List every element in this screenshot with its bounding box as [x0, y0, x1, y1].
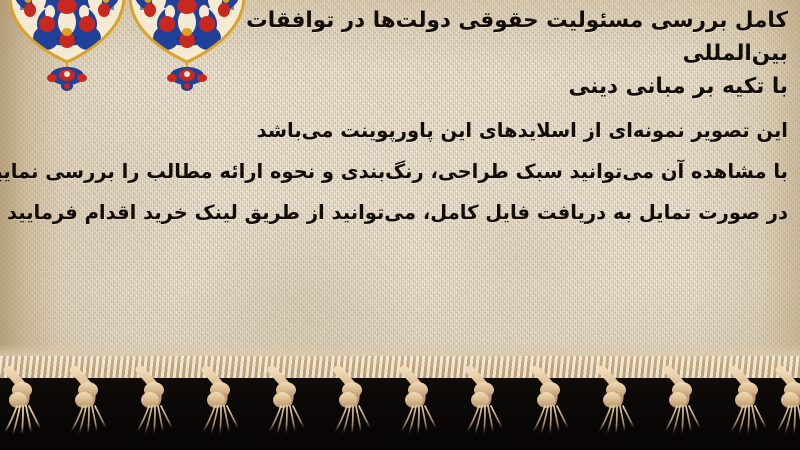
slide-title-line-1: کامل بررسی مسئولیت حقوقی دولت‌ها در تواف… [246, 8, 788, 66]
persian-medallion-left-icon [6, 0, 128, 91]
slide-body-line-2: با مشاهده آن می‌توانید سبک طراحی، رنگ‌بن… [68, 151, 788, 192]
carpet-fringe [0, 344, 800, 450]
slide-canvas: کامل بررسی مسئولیت حقوقی دولت‌ها در تواف… [0, 0, 800, 450]
slide-title: کامل بررسی مسئولیت حقوقی دولت‌ها در تواف… [188, 4, 788, 103]
fringe-tassels-icon [0, 344, 800, 450]
slide-body-line-1: این تصویر نمونه‌ای از اسلایدهای این پاور… [68, 110, 788, 151]
slide-body-line-3: در صورت تمایل به دریافت فایل کامل، می‌تو… [68, 192, 788, 233]
slide-title-line-2: با تکیه بر مبانی دینی [188, 70, 788, 103]
slide-body: این تصویر نمونه‌ای از اسلایدهای این پاور… [68, 110, 788, 233]
